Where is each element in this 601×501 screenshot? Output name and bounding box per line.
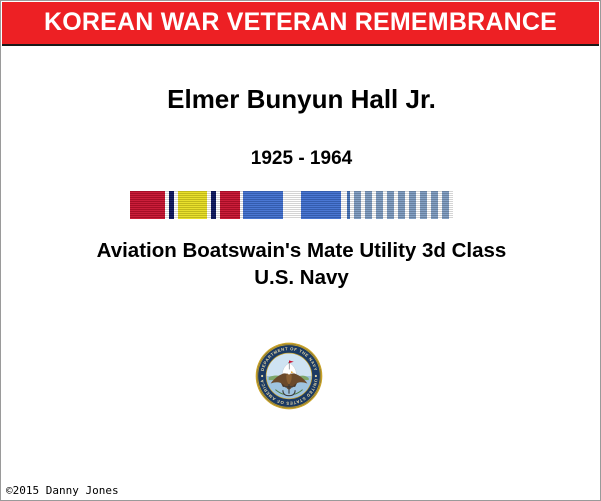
page-title: KOREAN WAR VETERAN REMEMBRANCE	[44, 10, 557, 35]
ribbon-stripe	[243, 191, 283, 219]
ribbon-stripe	[301, 191, 341, 219]
ribbon-stripe	[283, 191, 301, 219]
copyright-notice: ©2015 Danny Jones	[6, 484, 119, 497]
ribbon-stripe	[220, 191, 238, 219]
header-banner: KOREAN WAR VETERAN REMEMBRANCE	[2, 2, 599, 46]
ribbon-stripe	[449, 191, 453, 219]
veteran-name: Elmer Bunyun Hall Jr.	[1, 83, 601, 115]
ribbon-stripe	[409, 191, 416, 219]
department-of-the-navy-seal: DEPARTMENT OF THE NAVY UNITED STATES OF …	[255, 342, 323, 410]
ribbon-stripe	[387, 191, 394, 219]
service-ribbon-bar	[130, 191, 453, 219]
ribbon-stripe	[376, 191, 383, 219]
ribbon-stripe	[420, 191, 427, 219]
united-nations-korea-service-ribbon	[345, 191, 453, 219]
ribbon-stripe	[365, 191, 372, 219]
navy-seal-icon: DEPARTMENT OF THE NAVY UNITED STATES OF …	[255, 342, 323, 410]
ribbon-stripe	[354, 191, 361, 219]
ribbon-stripe	[431, 191, 438, 219]
ribbon-stripe	[442, 191, 449, 219]
ribbon-stripe	[398, 191, 405, 219]
life-dates: 1925 - 1964	[1, 147, 601, 171]
rating-block: Aviation Boatswain's Mate Utility 3d Cla…	[1, 237, 601, 291]
china-service-medal-ribbon	[130, 191, 238, 219]
ribbon-stripe	[178, 191, 207, 219]
ribbon-stripe	[130, 191, 165, 219]
memorial-page: KOREAN WAR VETERAN REMEMBRANCE Elmer Bun…	[0, 0, 601, 501]
rating-title: Aviation Boatswain's Mate Utility 3d Cla…	[1, 237, 601, 264]
branch-name: U.S. Navy	[1, 264, 601, 291]
navy-occupation-service-ribbon	[238, 191, 345, 219]
